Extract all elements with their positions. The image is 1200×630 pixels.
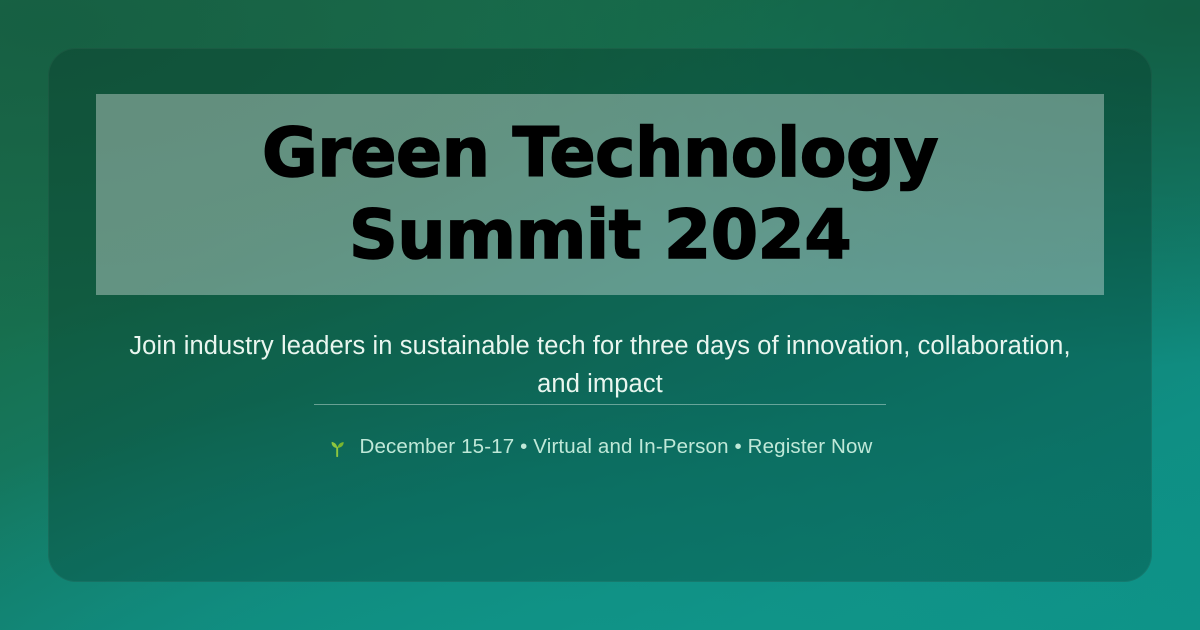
event-meta-text[interactable]: December 15-17 • Virtual and In-Person •… <box>359 434 872 460</box>
sprout-icon <box>327 436 349 458</box>
event-banner: Green Technology Summit 2024 Join indust… <box>0 0 1200 630</box>
page-title-line-1: Green Technology <box>262 113 938 195</box>
title-band: Green Technology Summit 2024 <box>96 94 1104 295</box>
event-subtitle: Join industry leaders in sustainable tec… <box>120 327 1080 403</box>
page-title-line-2: Summit 2024 <box>349 195 851 277</box>
event-meta-row: December 15-17 • Virtual and In-Person •… <box>96 434 1104 460</box>
section-divider <box>314 404 886 405</box>
banner-card: Green Technology Summit 2024 Join indust… <box>48 48 1152 582</box>
